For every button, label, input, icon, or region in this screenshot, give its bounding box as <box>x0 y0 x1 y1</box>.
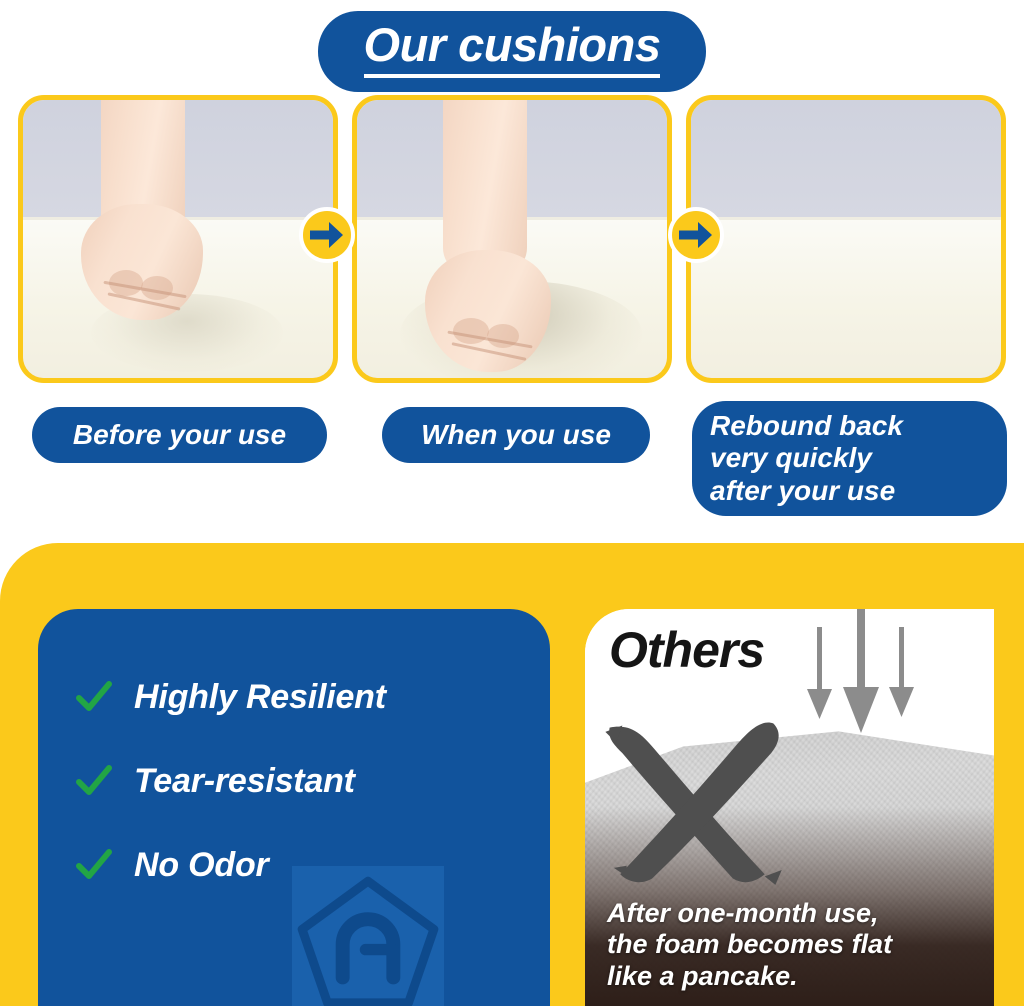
caption-during: When you use <box>382 407 650 463</box>
features-card: Highly Resilient Tear-resistant No Odor <box>38 609 550 1006</box>
foam-surface <box>691 217 1001 378</box>
caption-after: Rebound back very quickly after your use <box>692 401 1007 516</box>
step-photo-during <box>352 95 672 383</box>
photo-after-image <box>691 100 1001 378</box>
others-caption: After one-month use, the foam becomes fl… <box>607 898 892 992</box>
photo-before-image <box>23 100 333 378</box>
others-title: Others <box>609 621 764 679</box>
step-photo-before <box>18 95 338 383</box>
check-icon <box>76 847 112 883</box>
caption-line: When you use <box>421 419 611 451</box>
page-title: Our cushions <box>364 20 661 69</box>
caption-line: After one-month use, <box>607 898 892 929</box>
step-caption-row: Before your use When you use Rebound bac… <box>0 395 1024 540</box>
comparison-section: Highly Resilient Tear-resistant No Odor … <box>0 543 1024 1006</box>
arrow-right-icon <box>668 207 724 263</box>
feature-item: Highly Resilient <box>76 655 550 739</box>
title-banner: Our cushions <box>318 11 707 92</box>
photo-during-image <box>357 100 667 378</box>
caption-line: the foam becomes flat <box>607 929 892 960</box>
arrow-right-icon <box>299 207 355 263</box>
foam-edge <box>691 217 1001 220</box>
caption-before: Before your use <box>32 407 327 463</box>
feature-label: No Odor <box>134 846 269 885</box>
photo-backdrop <box>691 100 1001 222</box>
forearm-shape <box>443 100 527 274</box>
caption-line: like a pancake. <box>607 961 892 992</box>
check-icon <box>76 679 112 715</box>
pentagon-house-logo-icon <box>292 866 444 1006</box>
feature-label: Tear-resistant <box>134 762 355 801</box>
caption-line: very quickly <box>710 442 1007 474</box>
x-cross-icon <box>591 717 811 887</box>
feature-item: Tear-resistant <box>76 739 550 823</box>
title-underline <box>364 74 661 78</box>
caption-line: after your use <box>710 475 1007 507</box>
header: Our cushions <box>0 0 1024 95</box>
caption-line: Rebound back <box>710 410 1007 442</box>
step-panel-strip <box>0 95 1024 395</box>
step-photo-after <box>686 95 1006 383</box>
knuckle-shape <box>453 318 489 344</box>
caption-line: Before your use <box>73 419 286 451</box>
others-card: Others After one-month use, <box>585 609 994 1006</box>
check-icon <box>76 763 112 799</box>
feature-label: Highly Resilient <box>134 678 386 717</box>
